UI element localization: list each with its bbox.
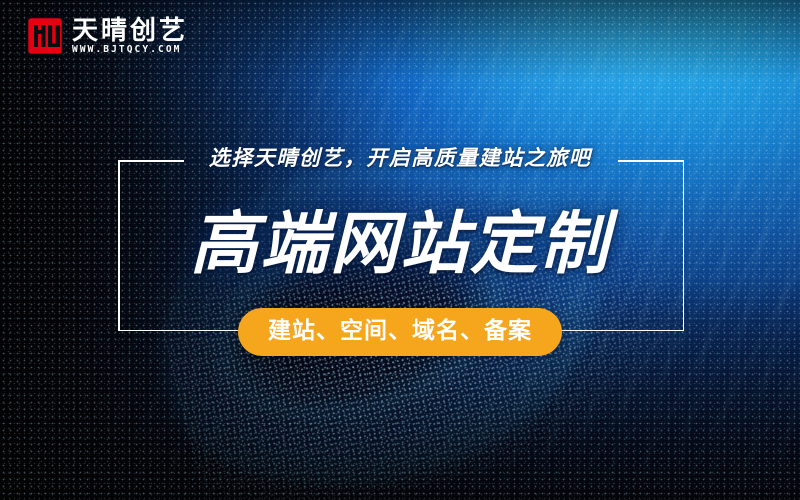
banner-headline: 高端网站定制 (0, 203, 800, 287)
brand-company-name: 天晴创艺 (72, 18, 188, 44)
services-pill-button[interactable]: 建站、空间、域名、备案 (238, 308, 562, 356)
brand-website-url: WWW.BJTQCY.COM (72, 45, 188, 55)
tianqing-chuangyi-logo-mark-icon (27, 17, 63, 55)
promo-banner: 天晴创艺 WWW.BJTQCY.COM 选择天晴创艺，开启高质量建站之旅吧 高端… (0, 0, 800, 500)
brand-logo-text: 天晴创艺 WWW.BJTQCY.COM (72, 18, 188, 55)
banner-tagline: 选择天晴创艺，开启高质量建站之旅吧 (0, 143, 800, 173)
brand-logo[interactable]: 天晴创艺 WWW.BJTQCY.COM (27, 17, 188, 55)
